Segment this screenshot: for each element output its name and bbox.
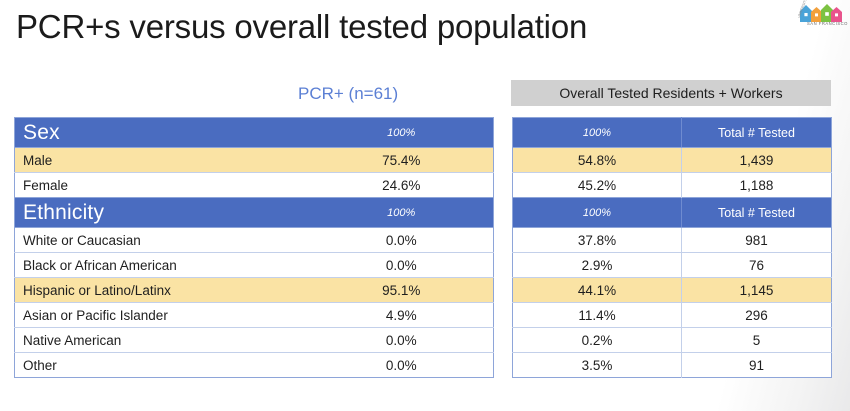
table-row[interactable]: 44.1% 1,145 [513, 278, 832, 303]
row-pct: 95.1% [310, 278, 494, 303]
table-row[interactable]: Asian or Pacific Islander 4.9% [15, 303, 494, 328]
row-total: 76 [682, 253, 832, 278]
overall-tested-table: 100% Total # Tested 54.8% 1,439 45.2% 1,… [512, 117, 832, 378]
page-title: PCR+s versus overall tested population [16, 8, 587, 46]
table-row[interactable]: Other 0.0% [15, 353, 494, 378]
row-pct: 54.8% [513, 148, 682, 173]
table-row[interactable]: 45.2% 1,188 [513, 173, 832, 198]
table-row[interactable]: 54.8% 1,439 [513, 148, 832, 173]
row-label: Other [15, 353, 310, 378]
section-header-ethnicity: Ethnicity 100% [15, 198, 494, 228]
section-header-sex: Sex 100% [15, 118, 494, 148]
row-pct: 37.8% [513, 228, 682, 253]
row-pct: 4.9% [310, 303, 494, 328]
overall-table-body: 100% Total # Tested 54.8% 1,439 45.2% 1,… [513, 118, 832, 378]
row-pct: 45.2% [513, 173, 682, 198]
section-pct-header: 100% [513, 198, 682, 228]
section-pct-header: 100% [513, 118, 682, 148]
section-title-ethnicity: Ethnicity [15, 198, 310, 228]
section-header-sex-overall: 100% Total # Tested [513, 118, 832, 148]
pcr-table-body: Sex 100% Male 75.4% Female 24.6% Ethnici… [15, 118, 494, 378]
table-row[interactable]: Hispanic or Latino/Latinx 95.1% [15, 278, 494, 303]
overall-column-group-label: Overall Tested Residents + Workers [511, 80, 831, 106]
table-row[interactable]: 0.2% 5 [513, 328, 832, 353]
row-pct: 0.0% [310, 328, 494, 353]
row-label: Female [15, 173, 310, 198]
table-row[interactable]: White or Caucasian 0.0% [15, 228, 494, 253]
row-label: Hispanic or Latino/Latinx [15, 278, 310, 303]
table-row[interactable]: 11.4% 296 [513, 303, 832, 328]
row-pct: 0.2% [513, 328, 682, 353]
pcr-positive-table: Sex 100% Male 75.4% Female 24.6% Ethnici… [14, 117, 494, 378]
row-total: 1,145 [682, 278, 832, 303]
section-pct-header-ethnicity: 100% [310, 198, 494, 228]
slide-canvas: SAN FRANCISCO UNIVERSITY PCR+s versus ov… [0, 0, 850, 411]
row-pct: 44.1% [513, 278, 682, 303]
row-pct: 2.9% [513, 253, 682, 278]
row-total: 1,439 [682, 148, 832, 173]
table-row[interactable]: 3.5% 91 [513, 353, 832, 378]
table-row[interactable]: 37.8% 981 [513, 228, 832, 253]
pcr-column-group-label: PCR+ (n=61) [298, 84, 398, 104]
row-pct: 0.0% [310, 353, 494, 378]
table-row[interactable]: Male 75.4% [15, 148, 494, 173]
row-pct: 11.4% [513, 303, 682, 328]
row-label: Native American [15, 328, 310, 353]
row-label: White or Caucasian [15, 228, 310, 253]
section-total-header: Total # Tested [682, 118, 832, 148]
table-row[interactable]: 2.9% 76 [513, 253, 832, 278]
row-pct: 24.6% [310, 173, 494, 198]
san-francisco-logo-icon: SAN FRANCISCO UNIVERSITY [798, 0, 850, 26]
section-header-ethnicity-overall: 100% Total # Tested [513, 198, 832, 228]
row-pct: 3.5% [513, 353, 682, 378]
table-row[interactable]: Female 24.6% [15, 173, 494, 198]
row-label: Black or African American [15, 253, 310, 278]
table-row[interactable]: Black or African American 0.0% [15, 253, 494, 278]
row-total: 5 [682, 328, 832, 353]
row-label: Asian or Pacific Islander [15, 303, 310, 328]
section-pct-header-sex: 100% [310, 118, 494, 148]
row-label: Male [15, 148, 310, 173]
row-total: 1,188 [682, 173, 832, 198]
row-total: 296 [682, 303, 832, 328]
section-total-header: Total # Tested [682, 198, 832, 228]
row-pct: 0.0% [310, 228, 494, 253]
row-pct: 0.0% [310, 253, 494, 278]
row-pct: 75.4% [310, 148, 494, 173]
svg-text:SAN FRANCISCO: SAN FRANCISCO [807, 21, 848, 26]
table-row[interactable]: Native American 0.0% [15, 328, 494, 353]
row-total: 91 [682, 353, 832, 378]
section-title-sex: Sex [15, 118, 310, 148]
row-total: 981 [682, 228, 832, 253]
